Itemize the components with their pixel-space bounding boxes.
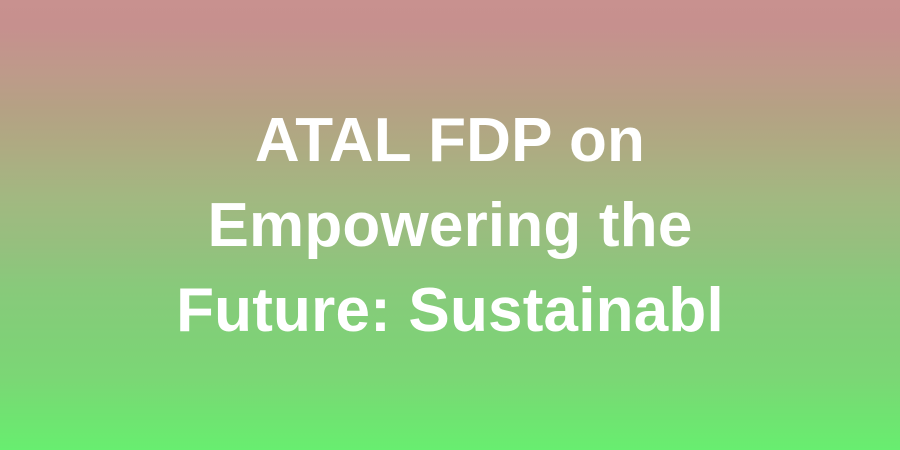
- event-title-banner: ATAL FDP on Empowering the Future: Susta…: [0, 0, 900, 450]
- title-line-3: Future: Sustainabl: [0, 268, 900, 353]
- banner-title-block: ATAL FDP on Empowering the Future: Susta…: [0, 0, 900, 450]
- title-line-2: Empowering the: [0, 183, 900, 268]
- title-line-1: ATAL FDP on: [0, 98, 900, 183]
